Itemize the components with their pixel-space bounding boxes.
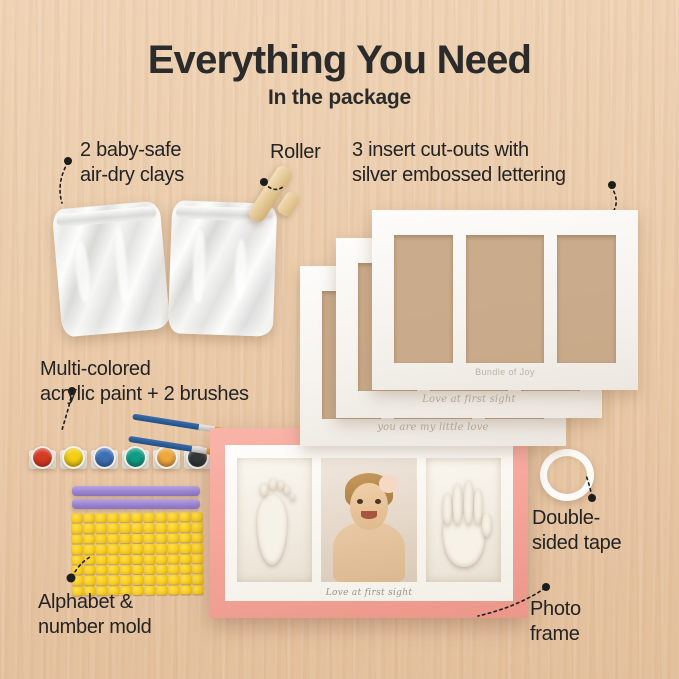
mold-stamp	[192, 575, 203, 584]
mold-stamp	[72, 565, 83, 574]
mold-stamp	[156, 513, 167, 522]
product-infographic: Everything You Need In the package you a…	[0, 0, 679, 679]
mold-stamp	[144, 554, 155, 563]
paint-pot-color	[62, 446, 85, 469]
paint-pot-red	[27, 443, 58, 477]
mold-stamp	[132, 554, 143, 563]
label-photo: Photo frame	[530, 597, 581, 647]
paint-pot-color	[155, 446, 178, 469]
mold-stamp	[72, 545, 83, 554]
footprint-sole	[257, 495, 287, 564]
page-title: Everything You Need	[0, 38, 679, 83]
handprint-finger	[453, 483, 462, 525]
mold-stamp	[96, 576, 107, 585]
mold-stamp	[108, 565, 119, 574]
insert-window	[394, 235, 453, 363]
mold-stamp	[96, 565, 107, 574]
mold-stamp	[180, 523, 191, 532]
page-subtitle: In the package	[0, 86, 679, 110]
alphabet-number-mold	[72, 512, 204, 595]
mold-bar	[72, 499, 200, 509]
mold-stamp	[168, 564, 179, 573]
mold-stamp	[108, 534, 119, 543]
mold-stamp	[132, 513, 143, 522]
mold-stamp	[132, 544, 143, 553]
paint-pot-teal	[120, 443, 151, 477]
label-alphabet: Alphabet & number mold	[38, 590, 151, 640]
paint-pot-color	[31, 446, 54, 469]
frame-mat: Love at first sight	[225, 445, 513, 601]
mold-stamp	[156, 575, 167, 584]
frame-caption: Love at first sight	[225, 588, 513, 598]
mold-stamp	[132, 565, 143, 574]
mold-stamp	[168, 575, 179, 584]
baby-photo	[321, 458, 417, 582]
handprint-finger	[464, 480, 473, 525]
mold-stamp	[156, 585, 167, 594]
mold-stamp	[192, 543, 203, 552]
mold-stamp	[84, 555, 95, 564]
mold-stamp	[192, 564, 203, 573]
mold-stamp	[108, 555, 119, 564]
mold-bar	[72, 486, 200, 496]
mold-stamp	[144, 534, 155, 543]
label-clay: 2 baby-safe air-dry clays	[80, 138, 184, 188]
mold-stamp	[72, 555, 83, 564]
mold-stamp	[168, 523, 179, 532]
mold-stamp	[144, 523, 155, 532]
baby-body	[333, 522, 404, 582]
footprint-toe	[278, 480, 285, 491]
mold-stamp	[72, 514, 83, 523]
mold-stamp	[156, 565, 167, 574]
mold-stamp	[168, 513, 179, 522]
mold-stamp	[72, 524, 83, 533]
mold-stamp	[180, 564, 191, 573]
footprint-toe	[284, 485, 290, 495]
mold-stamp	[168, 544, 179, 553]
mold-stamp	[120, 513, 131, 522]
handprint-panel	[426, 458, 501, 582]
mold-stamp	[84, 576, 95, 585]
mold-stamp	[120, 565, 131, 574]
mold-stamp	[144, 565, 155, 574]
insert-lettering: Love at first sight	[336, 394, 602, 405]
mold-stamp	[144, 513, 155, 522]
handprint-finger	[474, 488, 482, 525]
baby-bow	[379, 475, 398, 492]
mold-stamp	[132, 534, 143, 543]
mold-stamp	[168, 585, 179, 594]
mold-stamp	[168, 554, 179, 563]
paint-pot-blue	[89, 443, 120, 477]
mold-stamp	[108, 513, 119, 522]
mold-stamp	[144, 544, 155, 553]
insert-window	[466, 235, 545, 363]
insert-cutout: Bundle of Joy	[372, 210, 638, 390]
mold-stamp	[84, 565, 95, 574]
photo-frame: Love at first sight	[210, 428, 528, 618]
handprint-thumb	[482, 513, 492, 538]
mold-stamp	[84, 513, 95, 522]
mold-stamp	[156, 554, 167, 563]
baby-eye	[375, 499, 381, 504]
mold-stamp	[108, 575, 119, 584]
mold-stamp	[120, 555, 131, 564]
mold-stamp	[144, 575, 155, 584]
mold-stamp	[96, 513, 107, 522]
mold-stamp	[192, 585, 203, 594]
insert-lettering: Bundle of Joy	[372, 367, 638, 377]
mold-stamp	[180, 554, 191, 563]
mold-stamp	[180, 512, 191, 521]
brush-handle	[132, 414, 201, 431]
mold-stamp	[96, 534, 107, 543]
mold-stamp	[84, 534, 95, 543]
mold-stamp	[180, 575, 191, 584]
mold-stamp	[120, 544, 131, 553]
mold-stamp	[180, 585, 191, 594]
footprint-toe	[269, 478, 277, 490]
mold-stamp	[108, 544, 119, 553]
mold-stamp	[132, 575, 143, 584]
mold-stamp	[132, 523, 143, 532]
footprint-panel	[237, 458, 312, 582]
mold-stamp	[180, 533, 191, 542]
clay-packet	[52, 201, 171, 338]
mold-stamp	[120, 575, 131, 584]
mold-stamp	[96, 555, 107, 564]
paint-pot-color	[93, 446, 116, 469]
double-sided-tape-roll	[540, 449, 594, 501]
baby-mouth	[361, 511, 376, 518]
mold-stamp	[120, 523, 131, 532]
mold-stamp	[120, 534, 131, 543]
label-tape: Double- sided tape	[532, 506, 621, 556]
handprint-finger	[443, 493, 452, 525]
mold-stamp	[72, 534, 83, 543]
mold-stamp	[84, 524, 95, 533]
mold-stamp	[192, 533, 203, 542]
mold-stamp	[108, 524, 119, 533]
mold-stamp	[192, 523, 203, 532]
footprint-toe	[260, 483, 268, 497]
footprint-toe	[290, 493, 295, 502]
paint-pot-color	[124, 446, 147, 469]
mold-holder-bars	[72, 486, 200, 512]
mold-stamp	[192, 554, 203, 563]
mold-stamp	[156, 533, 167, 542]
paint-pot-yellow	[58, 443, 89, 477]
mold-stamp	[192, 512, 203, 521]
mold-stamp	[156, 523, 167, 532]
label-inserts: 3 insert cut-outs with silver embossed l…	[352, 138, 566, 188]
mold-stamp	[156, 544, 167, 553]
label-roller: Roller	[270, 140, 320, 165]
mold-stamp	[180, 544, 191, 553]
mold-stamp	[96, 524, 107, 533]
mold-stamp	[96, 544, 107, 553]
mold-stamp	[84, 545, 95, 554]
label-paint: Multi-colored acrylic paint + 2 brushes	[40, 357, 249, 407]
mold-stamp	[168, 533, 179, 542]
mold-stamp	[72, 576, 83, 585]
insert-window	[557, 235, 616, 363]
insert-lettering: you are my little love	[300, 422, 566, 433]
